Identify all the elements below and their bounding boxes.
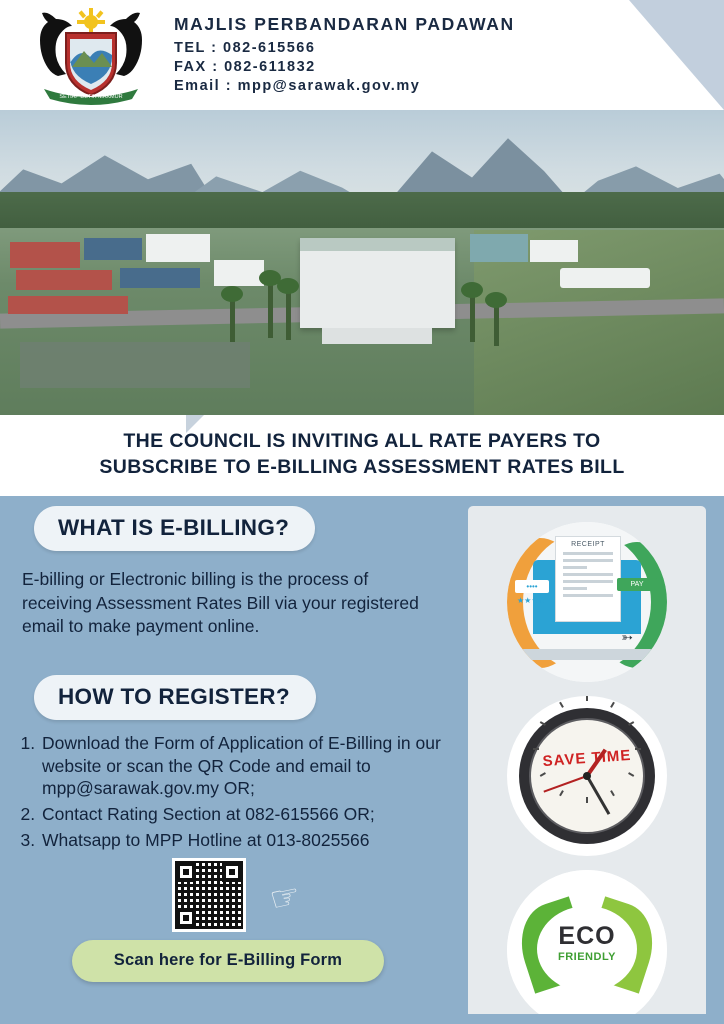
how-to-register-pill: HOW TO REGISTER? [34,675,316,720]
photo-palm-tree [268,280,273,338]
photo-building [530,240,578,262]
bottom-strip [0,1014,724,1024]
headline-banner: THE COUNCIL IS INVITING ALL RATE PAYERS … [0,415,724,496]
receipt-icon: RECEIPT [555,536,621,622]
photo-building [8,296,128,314]
council-name: MAJLIS PERBANDARAN PADAWAN [174,14,515,35]
council-fax: FAX : 082-611832 [174,58,515,77]
photo-building [470,234,528,262]
photo-palm-tree [230,296,235,342]
pointing-hand-icon: ☞ [266,875,304,920]
header-contact-block: MAJLIS PERBANDARAN PADAWAN TEL : 082-615… [174,14,515,96]
step-item: Download the Form of Application of E-Bi… [40,732,442,800]
eco-friendly-icon: ECO FRIENDLY [507,870,667,1024]
photo-building [214,260,264,286]
headline-line-2: SUBSCRIBE TO E-BILLING ASSESSMENT RATES … [99,456,624,478]
stars-badge: ★★★★ [517,596,546,605]
qr-row: ☞ [20,858,442,936]
photo-palm-tree [494,302,499,346]
photo-building [560,268,650,288]
illustration-panel: RECEIPT •••• PAY ★★★★ ➳ [468,506,706,1024]
council-tel: TEL : 082-615566 [174,39,515,58]
photo-council-building [300,238,455,328]
qr-eye-icon [176,908,196,928]
step-item: Contact Rating Section at 082-615566 OR; [40,803,442,826]
header-corner-decoration [629,0,724,110]
receipt-title: RECEIPT [556,541,620,548]
photo-building [16,270,112,290]
poster: SETIAP DETIK MAKMUR MAJLIS PERBANDARAN P… [0,0,724,1024]
photo-carpark [20,342,250,388]
photo-building [84,238,142,260]
what-is-ebilling-pill: WHAT IS E-BILLING? [34,506,315,551]
header: SETIAP DETIK MAKMUR MAJLIS PERBANDARAN P… [0,0,724,110]
padawan-council-crest-icon: SETIAP DETIK MAKMUR [26,5,156,105]
aerial-photo [0,110,724,415]
qr-code[interactable] [172,858,246,932]
how-to-register-steps: Download the Form of Application of E-Bi… [40,732,442,852]
scan-here-button-label: Scan here for E-Billing Form [114,951,342,969]
left-column: WHAT IS E-BILLING? E-billing or Electron… [0,506,462,981]
card-dots-badge: •••• [515,580,549,593]
headline-line-1: THE COUNCIL IS INVITING ALL RATE PAYERS … [123,430,600,452]
what-is-ebilling-body: E-billing or Electronic billing is the p… [22,568,440,638]
photo-palm-tree [286,288,291,340]
headline-corner-decoration [186,415,204,433]
qr-eye-icon [222,862,242,882]
photo-building [146,234,210,262]
photo-palm-tree [470,292,475,342]
scan-here-button[interactable]: Scan here for E-Billing Form [72,940,384,982]
eco-label-line-1: ECO [507,922,667,951]
pay-badge: PAY [617,578,657,591]
online-billing-icon: RECEIPT •••• PAY ★★★★ ➳ [507,522,667,682]
mouse-cursor-icon: ➳ [621,629,633,646]
council-email: Email : mpp@sarawak.gov.my [174,77,515,96]
how-to-register-title: HOW TO REGISTER? [58,684,290,710]
what-is-ebilling-title: WHAT IS E-BILLING? [58,515,289,541]
photo-building [10,242,80,268]
save-time-clock-icon: SAVE TIME [507,696,667,856]
eco-label-line-2: FRIENDLY [507,951,667,963]
body-section: WHAT IS E-BILLING? E-billing or Electron… [0,496,724,1024]
svg-text:SETIAP DETIK MAKMUR: SETIAP DETIK MAKMUR [59,94,122,100]
qr-eye-icon [176,862,196,882]
photo-building [120,268,200,288]
step-item: Whatsapp to MPP Hotline at 013-8025566 [40,829,442,852]
